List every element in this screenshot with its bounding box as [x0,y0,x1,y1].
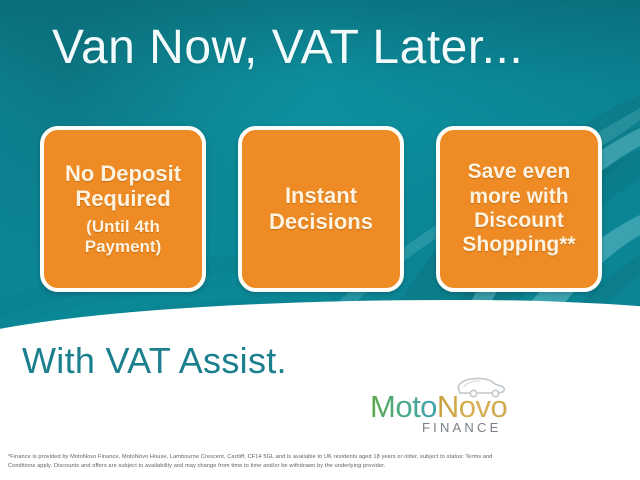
legal-fineprint: *Finance is provided by MotoNovo Finance… [8,453,632,470]
fineprint-line-1: *Finance is provided by MotoNovo Finance… [8,453,632,462]
motonovo-wordmark: MotoNovo [370,391,507,422]
feature-box-instant-decisions[interactable]: Instant Decisions [238,126,404,292]
strapline: With VAT Assist. [22,340,287,382]
page-title: Van Now, VAT Later... [52,22,523,74]
feature-box-no-deposit-subtitle: (Until 4th Payment) [50,217,196,257]
feature-box-no-deposit-title: No Deposit Required [50,161,196,212]
feature-box-group: No Deposit Required (Until 4th Payment) … [40,126,602,292]
logo-word-moto: Moto [370,389,437,424]
feature-box-no-deposit[interactable]: No Deposit Required (Until 4th Payment) [40,126,206,292]
motonovo-logo[interactable]: MotoNovo FINANCE [370,376,528,436]
logo-subtitle-finance: FINANCE [422,420,501,435]
advertisement-banner: Van Now, VAT Later... No Deposit Require… [0,0,640,480]
fineprint-line-2: Conditions apply. Discounts and offers a… [8,462,632,471]
logo-word-novo: Novo [437,389,507,424]
feature-box-discount-shopping-title: Save even more with Discount Shopping** [446,160,592,257]
feature-box-discount-shopping[interactable]: Save even more with Discount Shopping** [436,126,602,292]
feature-box-instant-decisions-title: Instant Decisions [248,183,394,234]
